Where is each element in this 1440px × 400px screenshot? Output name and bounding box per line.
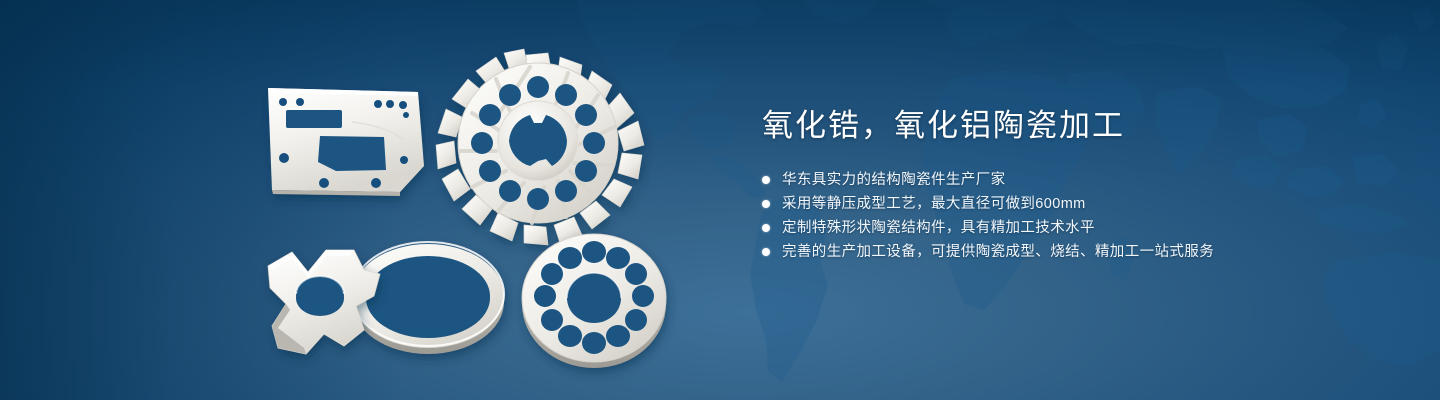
feature-text: 完善的生产加工设备，可提供陶瓷成型、烧结、精加工一站式服务: [782, 240, 1214, 264]
page-title: 氧化锆，氧化铝陶瓷加工: [762, 104, 1382, 148]
list-item: 华东具实力的结构陶瓷件生产厂家: [762, 168, 1382, 192]
feature-text: 华东具实力的结构陶瓷件生产厂家: [782, 168, 1006, 192]
ceramic-products-image: [0, 0, 720, 400]
list-item: 采用等静压成型工艺，最大直径可做到600mm: [762, 192, 1382, 216]
bullet-dot-icon: [762, 176, 770, 184]
feature-text: 定制特殊形状陶瓷结构件，具有精加工技术水平: [782, 216, 1095, 240]
ceramic-thin-ring: [352, 242, 504, 354]
ceramic-flat-plate: [268, 88, 424, 196]
list-item: 定制特殊形状陶瓷结构件，具有精加工技术水平: [762, 216, 1382, 240]
list-item: 完善的生产加工设备，可提供陶瓷成型、烧结、精加工一站式服务: [762, 240, 1382, 264]
ceramic-impeller: [436, 49, 644, 245]
bullet-dot-icon: [762, 248, 770, 256]
ceramic-perforated-disc: [522, 234, 666, 368]
promo-banner: 氧化锆，氧化铝陶瓷加工 华东具实力的结构陶瓷件生产厂家 采用等静压成型工艺，最大…: [0, 0, 1440, 400]
feature-list: 华东具实力的结构陶瓷件生产厂家 采用等静压成型工艺，最大直径可做到600mm 定…: [762, 168, 1382, 264]
feature-text: 采用等静压成型工艺，最大直径可做到600mm: [782, 192, 1086, 216]
banner-copy: 氧化锆，氧化铝陶瓷加工 华东具实力的结构陶瓷件生产厂家 采用等静压成型工艺，最大…: [762, 104, 1382, 264]
bullet-dot-icon: [762, 224, 770, 232]
bullet-dot-icon: [762, 200, 770, 208]
